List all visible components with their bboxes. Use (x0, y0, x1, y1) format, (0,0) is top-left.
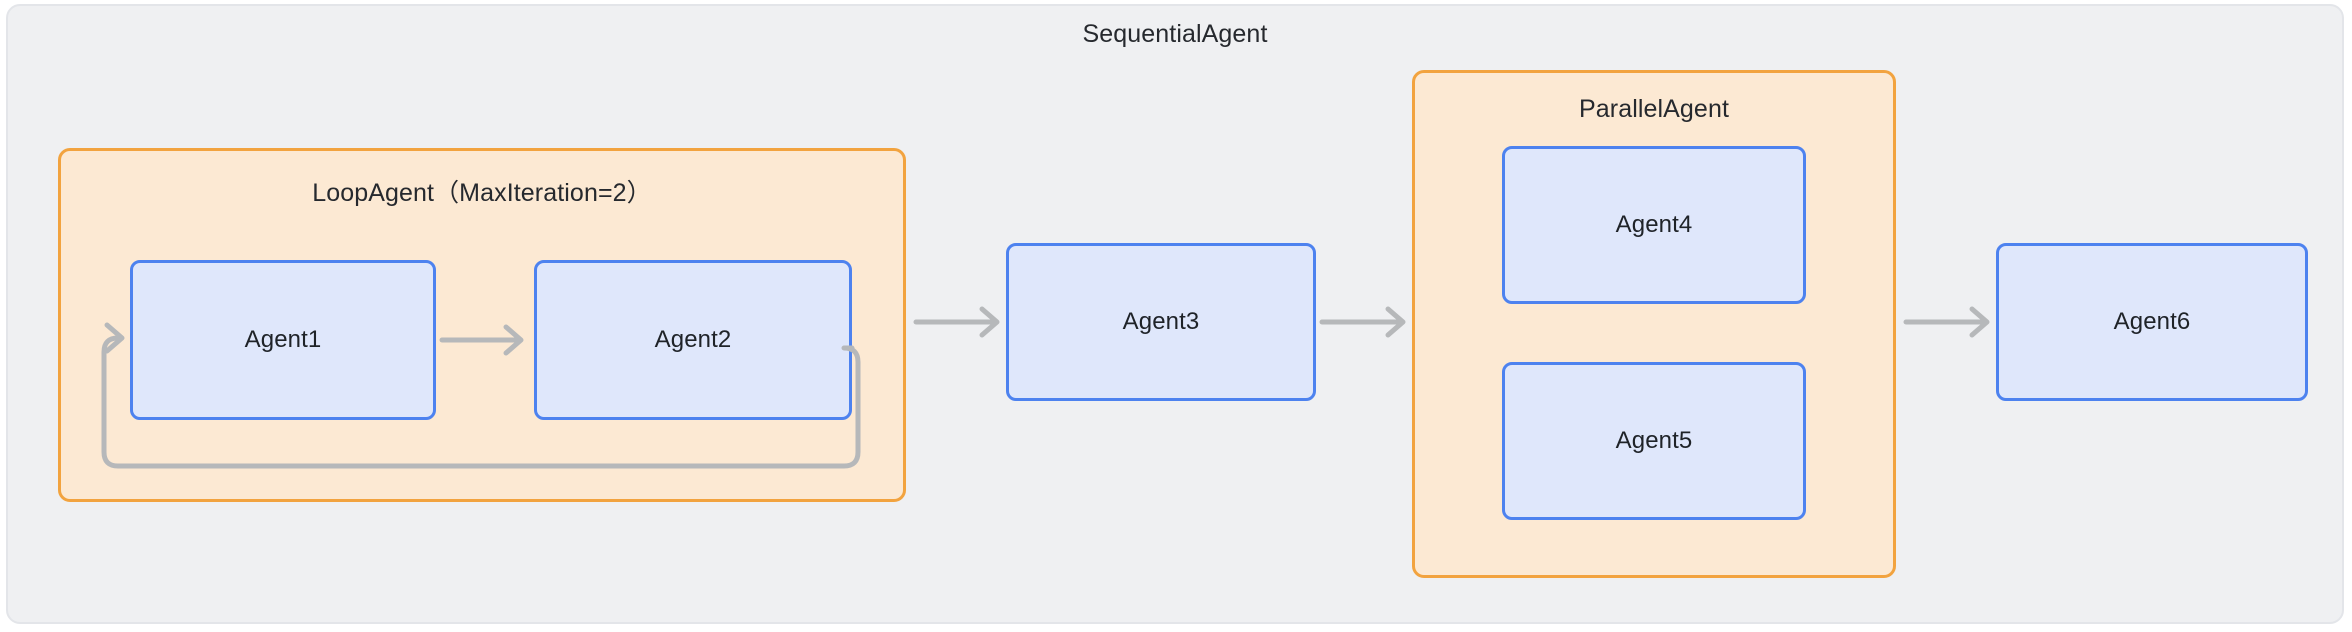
node-agent6[interactable]: Agent6 (1996, 243, 2308, 401)
node-agent5[interactable]: Agent5 (1502, 362, 1806, 520)
sequential-agent-title: SequentialAgent (8, 20, 2342, 49)
node-agent2[interactable]: Agent2 (534, 260, 852, 420)
node-agent3[interactable]: Agent3 (1006, 243, 1316, 401)
node-agent1[interactable]: Agent1 (130, 260, 436, 420)
node-agent4[interactable]: Agent4 (1502, 146, 1806, 304)
parallel-agent-title: ParallelAgent (1415, 95, 1893, 124)
loop-agent-title: LoopAgent（MaxIteration=2） (61, 173, 903, 209)
diagram-canvas: SequentialAgent LoopAgent（MaxIteration=2… (0, 0, 2352, 632)
